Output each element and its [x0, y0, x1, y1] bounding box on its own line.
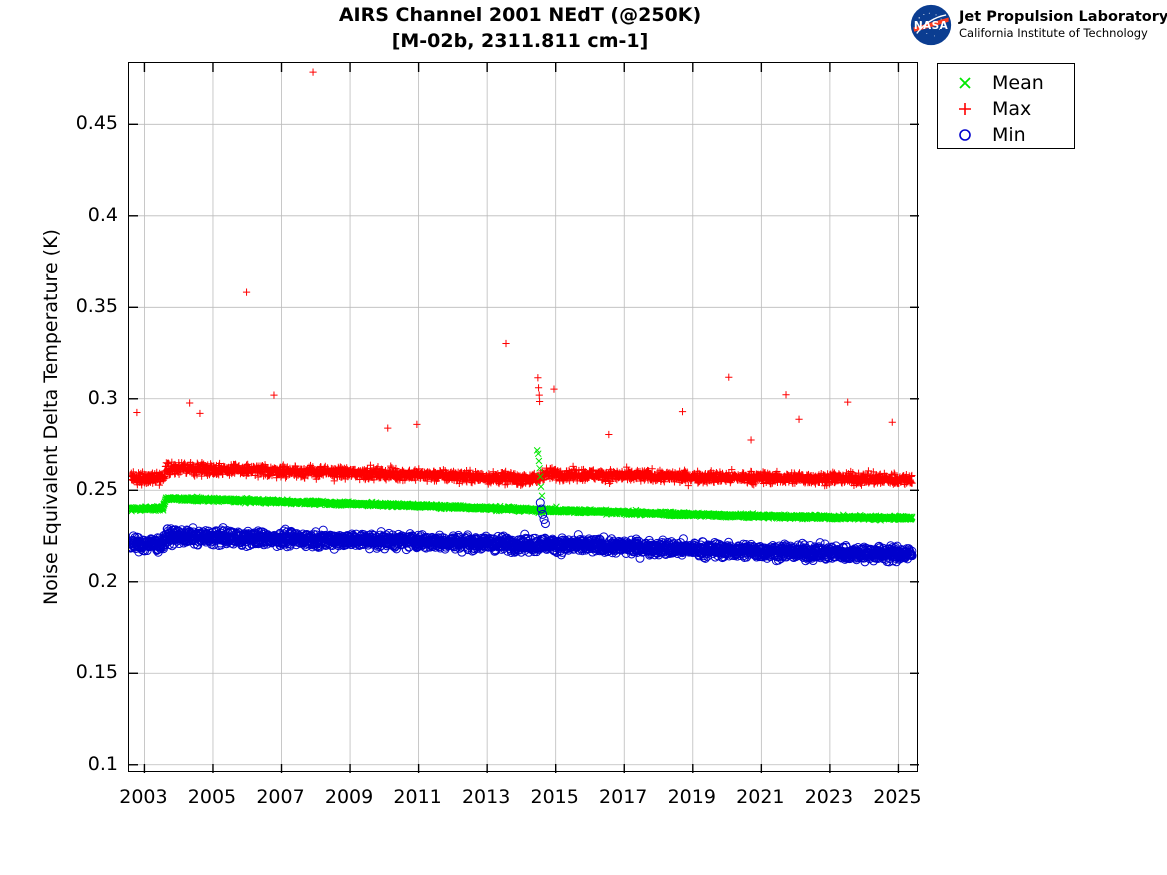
- grid-lines: [129, 63, 919, 773]
- chart-legend: Mean Max Min: [937, 63, 1075, 149]
- x-marker-icon: [938, 73, 992, 93]
- y-tick-label: 0.4: [58, 204, 118, 226]
- plot-canvas: [129, 63, 919, 773]
- nasa-meatball-icon: NASA: [910, 4, 952, 46]
- legend-label-max: Max: [992, 98, 1031, 120]
- chart-title-line2: [M-02b, 2311.811 cm-1]: [140, 28, 900, 54]
- circle-marker-icon: [938, 125, 992, 145]
- chart-title-line1: AIRS Channel 2001 NEdT (@250K): [140, 2, 900, 28]
- jpl-name: Jet Propulsion Laboratory: [959, 9, 1167, 26]
- y-tick-label: 0.45: [58, 112, 118, 134]
- legend-item-mean: Mean: [938, 70, 1074, 96]
- plus-marker-icon: [938, 99, 992, 119]
- y-axis-tick-labels: 0.10.150.20.250.30.350.40.45: [52, 62, 118, 772]
- y-tick-label: 0.25: [58, 478, 118, 500]
- plot-area: [128, 62, 918, 772]
- chart-title: AIRS Channel 2001 NEdT (@250K) [M-02b, 2…: [140, 2, 900, 54]
- y-tick-label: 0.35: [58, 295, 118, 317]
- y-tick-label: 0.3: [58, 387, 118, 409]
- series-max-points: [129, 69, 916, 490]
- jpl-wordmark: Jet Propulsion Laboratory California Ins…: [959, 9, 1167, 41]
- chart-page: AIRS Channel 2001 NEdT (@250K) [M-02b, 2…: [0, 0, 1167, 875]
- nasa-jpl-logo: NASA Jet Propulsion Laboratory Californi…: [910, 4, 1167, 46]
- x-axis-tick-labels: 2003200520072009201120132015201720192021…: [128, 786, 918, 816]
- x-tick-label: 2025: [857, 786, 937, 808]
- caltech-name: California Institute of Technology: [959, 26, 1167, 41]
- svg-text:NASA: NASA: [914, 20, 949, 32]
- legend-item-max: Max: [938, 96, 1074, 122]
- axis-ticks: [129, 63, 919, 773]
- y-tick-label: 0.1: [58, 753, 118, 775]
- legend-label-mean: Mean: [992, 72, 1044, 94]
- legend-item-min: Min: [938, 122, 1074, 148]
- legend-label-min: Min: [992, 124, 1026, 146]
- y-tick-label: 0.2: [58, 570, 118, 592]
- y-tick-label: 0.15: [58, 661, 118, 683]
